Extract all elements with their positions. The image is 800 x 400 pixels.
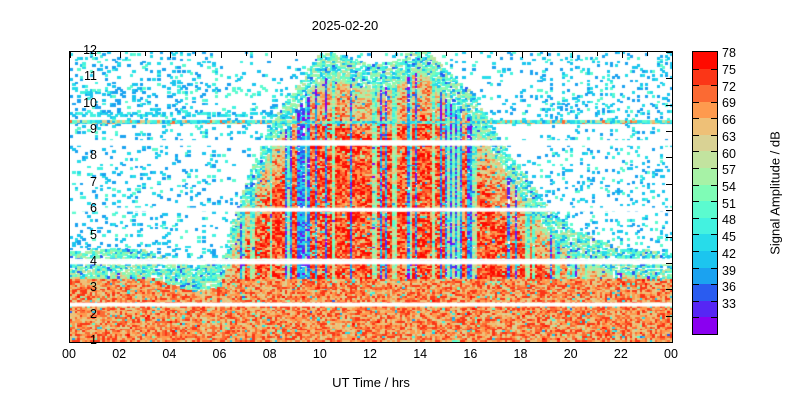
colorbar-segment: [693, 317, 717, 334]
colorbar-tick-label: 36: [722, 282, 736, 293]
y-axis-tick-right: [666, 184, 672, 185]
y-axis-tick-right: [666, 131, 672, 132]
x-axis-label: 06: [205, 348, 235, 360]
colorbar-tick-label: 72: [722, 82, 736, 93]
y-axis-tick-right: [666, 210, 672, 211]
heatmap-canvas: [70, 52, 672, 342]
x-axis-tick: [421, 342, 422, 343]
y-axis-tick-right: [666, 263, 672, 264]
colorbar-tick-label: 51: [722, 199, 736, 210]
x-axis-tick-top: [547, 52, 548, 56]
x-axis-tick-top: [622, 52, 623, 58]
x-axis-tick: [271, 342, 272, 343]
colorbar-tick-label: 78: [722, 48, 736, 59]
y-axis-tick-right: [666, 289, 672, 290]
colorbar-tick-label: 48: [722, 215, 736, 226]
x-axis-tick-top: [170, 52, 171, 58]
x-axis-tick: [496, 342, 497, 343]
x-axis-tick-top: [246, 52, 247, 56]
x-axis-label: 12: [355, 348, 385, 360]
x-axis-tick-top: [195, 52, 196, 56]
colorbar-tick-label: 57: [722, 165, 736, 176]
x-axis-tick: [321, 342, 322, 343]
x-axis-title: UT Time / hrs: [69, 375, 673, 390]
y-axis-tick-right: [666, 78, 672, 79]
x-axis-tick-top: [396, 52, 397, 56]
colorbar-segment: [693, 69, 717, 86]
colorbar-segment: [693, 135, 717, 152]
x-axis-label: 00: [54, 348, 84, 360]
x-axis-label: 22: [606, 348, 636, 360]
colorbar-segment: [693, 118, 717, 135]
x-axis-tick: [371, 342, 372, 343]
colorbar-segment: [693, 251, 717, 268]
x-axis-tick: [471, 342, 472, 343]
chart-title: 2025-02-20: [0, 18, 690, 33]
x-axis-label: 08: [255, 348, 285, 360]
colorbar-segment: [693, 102, 717, 119]
x-axis-tick-top: [221, 52, 222, 58]
x-axis-tick-top: [271, 52, 272, 58]
colorbar-segment: [693, 151, 717, 168]
colorbar-tick-label: 33: [722, 299, 736, 310]
y-axis-tick-right: [666, 342, 672, 343]
colorbar-segment: [693, 284, 717, 301]
y-axis-tick-right: [666, 316, 672, 317]
x-axis-tick-top: [145, 52, 146, 56]
colorbar-tick-label: 54: [722, 182, 736, 193]
colorbar-segment: [693, 301, 717, 318]
colorbar-title: Signal Amplitude / dB: [768, 131, 783, 255]
x-axis-tick: [647, 342, 648, 343]
x-axis-label: 04: [154, 348, 184, 360]
x-axis-tick: [597, 342, 598, 343]
x-axis-tick-top: [672, 52, 673, 58]
x-axis-label: 20: [556, 348, 586, 360]
y-axis-label: 7: [57, 177, 97, 187]
y-axis-tick-right: [666, 105, 672, 106]
x-axis-tick: [221, 342, 222, 343]
colorbar-segment: [693, 52, 717, 69]
x-axis-label: 10: [305, 348, 335, 360]
x-axis-tick: [170, 342, 171, 343]
x-axis-tick: [522, 342, 523, 343]
x-axis-label: 02: [104, 348, 134, 360]
colorbar-tick-label: 63: [722, 132, 736, 143]
x-axis-tick: [547, 342, 548, 343]
colorbar-tick-label: 45: [722, 232, 736, 243]
x-axis-tick: [396, 342, 397, 343]
colorbar-tick-label: 69: [722, 98, 736, 109]
y-axis-label: 6: [57, 203, 97, 213]
x-axis-tick: [672, 342, 673, 343]
x-axis-tick-top: [371, 52, 372, 58]
x-axis-tick-top: [446, 52, 447, 56]
x-axis-tick-top: [120, 52, 121, 58]
y-axis-label: 11: [57, 71, 97, 81]
x-axis-tick-top: [522, 52, 523, 58]
x-axis-tick: [296, 342, 297, 343]
x-axis-tick: [572, 342, 573, 343]
y-axis-tick-right: [666, 237, 672, 238]
colorbar-segment: [693, 168, 717, 185]
x-axis-label: 00: [656, 348, 686, 360]
x-axis-tick: [446, 342, 447, 343]
colorbar-segment: [693, 218, 717, 235]
heatmap-plot-area: [69, 51, 673, 343]
x-axis-label: 16: [455, 348, 485, 360]
colorbar-segment: [693, 85, 717, 102]
colorbar: [692, 51, 718, 335]
colorbar-segment: [693, 234, 717, 251]
colorbar-tick-label: 66: [722, 115, 736, 126]
x-axis-tick-top: [321, 52, 322, 58]
x-axis-tick: [195, 342, 196, 343]
x-axis-tick: [346, 342, 347, 343]
colorbar-segment: [693, 185, 717, 202]
colorbar-tick-label: 75: [722, 65, 736, 76]
x-axis-label: 14: [405, 348, 435, 360]
y-axis-label: 12: [57, 45, 97, 55]
colorbar-tick-label: 60: [722, 149, 736, 160]
x-axis-tick-top: [597, 52, 598, 56]
x-axis-tick: [145, 342, 146, 343]
x-axis-tick-top: [572, 52, 573, 58]
colorbar-tick-label: 42: [722, 249, 736, 260]
x-axis-tick-top: [647, 52, 648, 56]
y-axis-label: 5: [57, 230, 97, 240]
y-axis-label: 10: [57, 98, 97, 108]
x-axis-tick: [120, 342, 121, 343]
y-axis-label: 4: [57, 256, 97, 266]
y-axis-label: 9: [57, 124, 97, 134]
colorbar-segment: [693, 268, 717, 285]
x-axis-tick-top: [421, 52, 422, 58]
y-axis-label: 8: [57, 150, 97, 160]
x-axis-tick-top: [496, 52, 497, 56]
colorbar-tick-label: 39: [722, 266, 736, 277]
x-axis-tick: [622, 342, 623, 343]
x-axis-tick-top: [296, 52, 297, 56]
ionogram-figure: 2025-02-20 Frequency / MHz UT Time / hrs…: [0, 0, 800, 400]
y-axis-tick-right: [666, 157, 672, 158]
colorbar-segment: [693, 201, 717, 218]
x-axis-tick: [246, 342, 247, 343]
x-axis-tick-top: [471, 52, 472, 58]
x-axis-label: 18: [506, 348, 536, 360]
x-axis-tick-top: [346, 52, 347, 56]
y-axis-label: 3: [57, 282, 97, 292]
y-axis-label: 1: [57, 335, 97, 345]
y-axis-label: 2: [57, 309, 97, 319]
